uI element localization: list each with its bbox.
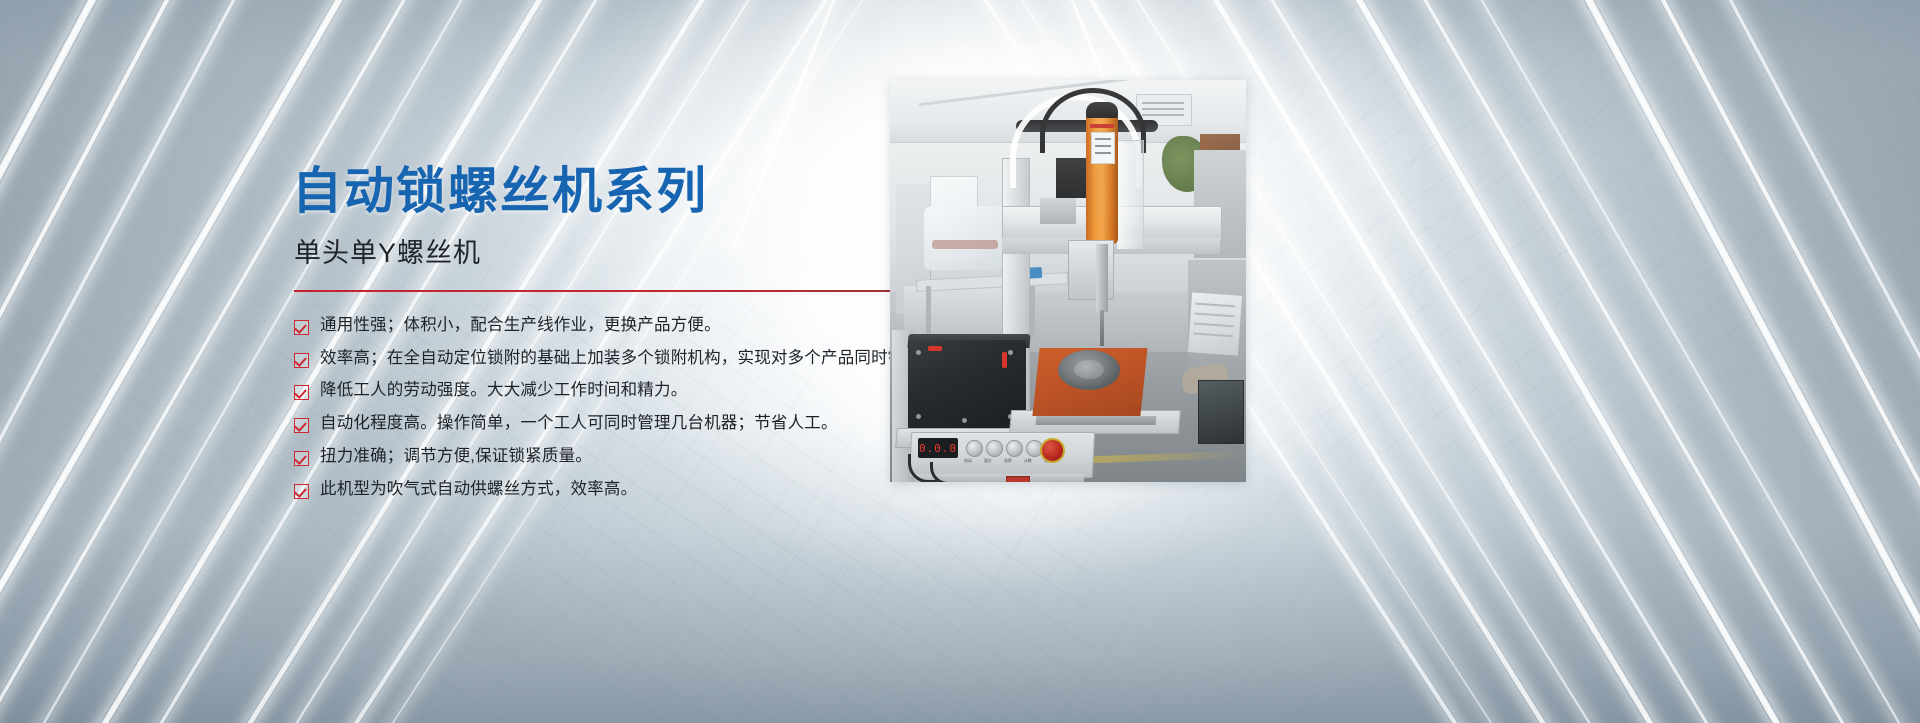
feature-text: 降低工人的劳动强度。大大减少工作时间和精力。 xyxy=(320,381,687,401)
title-divider xyxy=(294,290,898,292)
feature-item: 此机型为吹气式自动供螺丝方式，效率高。 xyxy=(292,480,912,500)
checkmark-icon xyxy=(294,353,309,368)
page-subtitle: 单头单Y螺丝机 xyxy=(294,237,912,271)
feature-text: 效率高；在全自动定位锁附的基础上加装多个锁附机构，实现对多个产品同时锁附。 xyxy=(320,349,938,369)
checkmark-icon xyxy=(294,385,309,400)
product-photo: 0.0.0 启动复位急停计数电源 xyxy=(890,80,1246,482)
checkmark-icon xyxy=(294,451,309,466)
feature-text: 通用性强；体积小，配合生产线作业，更换产品方便。 xyxy=(320,316,721,336)
checkmark-icon xyxy=(294,320,309,335)
feature-item: 降低工人的劳动强度。大大减少工作时间和精力。 xyxy=(292,381,912,401)
feature-item: 扭力准确；调节方便,保证锁紧质量。 xyxy=(292,447,912,467)
feature-item: 通用性强；体积小，配合生产线作业，更换产品方便。 xyxy=(292,316,912,336)
feature-item: 自动化程度高。操作简单，一个工人可同时管理几台机器；节省人工。 xyxy=(292,414,912,434)
checkmark-icon xyxy=(294,418,309,433)
feature-text: 扭力准确；调节方便,保证锁紧质量。 xyxy=(320,447,592,467)
feature-list: 通用性强；体积小，配合生产线作业，更换产品方便。效率高；在全自动定位锁附的基础上… xyxy=(292,316,912,500)
feature-text: 此机型为吹气式自动供螺丝方式，效率高。 xyxy=(320,480,637,500)
photo-shading-overlay xyxy=(890,80,1246,482)
banner-content: 自动锁螺丝机系列 单头单Y螺丝机 通用性强；体积小，配合生产线作业，更换产品方便… xyxy=(0,0,1920,723)
product-banner: 自动锁螺丝机系列 单头单Y螺丝机 通用性强；体积小，配合生产线作业，更换产品方便… xyxy=(0,0,1920,723)
feature-item: 效率高；在全自动定位锁附的基础上加装多个锁附机构，实现对多个产品同时锁附。 xyxy=(292,349,912,369)
page-title: 自动锁螺丝机系列 xyxy=(292,163,912,219)
text-column: 自动锁螺丝机系列 单头单Y螺丝机 通用性强；体积小，配合生产线作业，更换产品方便… xyxy=(292,163,912,513)
checkmark-icon xyxy=(294,484,309,499)
feature-text: 自动化程度高。操作简单，一个工人可同时管理几台机器；节省人工。 xyxy=(320,414,838,434)
